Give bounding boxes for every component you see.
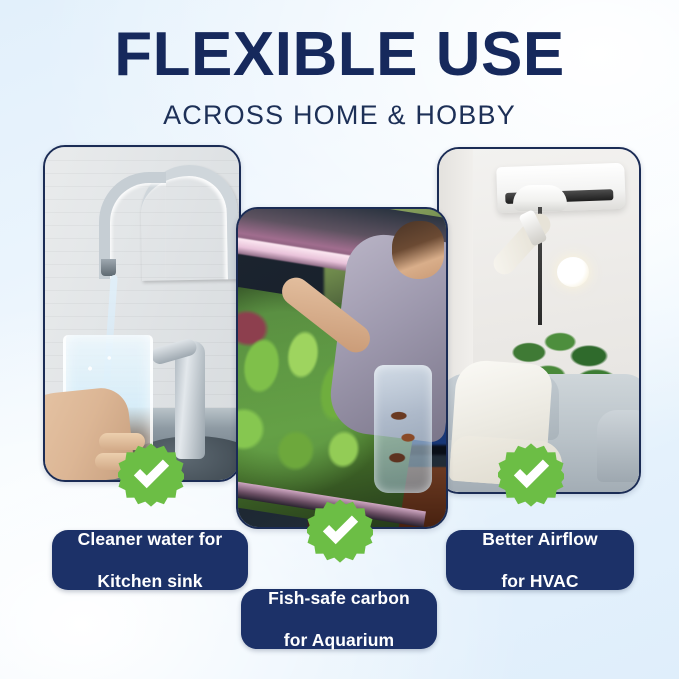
kitchen-photo xyxy=(45,147,239,480)
caption-hvac-line1: Better Airflow xyxy=(474,529,605,550)
photo-card-kitchen xyxy=(43,145,241,482)
caption-badge-hvac: Better Airflow for HVAC xyxy=(446,530,634,590)
aquarium-photo xyxy=(238,209,446,527)
photo-card-aquarium xyxy=(236,207,448,529)
lamp-bulb-icon xyxy=(557,257,589,287)
poster: FLEXIBLE USE ACROSS HOME & HOBBY xyxy=(0,0,679,679)
check-badge-icon-aquarium xyxy=(307,498,373,564)
caption-badge-aquarium: Fish-safe carbon for Aquarium xyxy=(241,589,437,649)
fish-bag xyxy=(374,365,432,493)
check-badge-icon-kitchen xyxy=(118,442,184,508)
fish-in-bag xyxy=(382,399,424,483)
caption-aquarium-line1: Fish-safe carbon xyxy=(260,588,418,609)
caption-badge-kitchen: Cleaner water for Kitchen sink xyxy=(52,530,248,590)
page-title: FLEXIBLE USE xyxy=(0,24,679,86)
page-subtitle: ACROSS HOME & HOBBY xyxy=(0,100,679,130)
check-badge-icon-hvac xyxy=(498,442,564,508)
faucet-spout-icon xyxy=(101,259,116,276)
aquarium-person-head xyxy=(392,221,444,279)
poster-heading: FLEXIBLE USE ACROSS HOME & HOBBY xyxy=(0,24,679,130)
caption-kitchen-line2: Kitchen sink xyxy=(70,571,231,592)
caption-kitchen-line1: Cleaner water for xyxy=(70,529,231,550)
hvac-photo xyxy=(439,149,639,492)
caption-aquarium-line2: for Aquarium xyxy=(260,630,418,651)
caption-hvac-line2: for HVAC xyxy=(474,571,605,592)
